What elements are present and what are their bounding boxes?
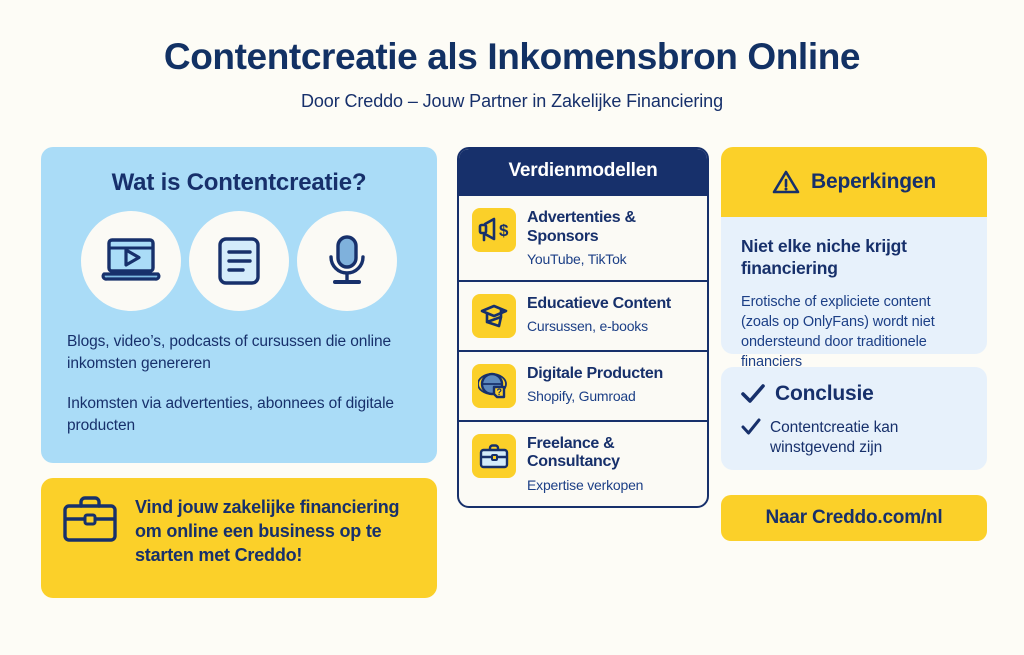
conclusion-point-row: Contentcreatie kan winstgevend zijn <box>741 418 967 459</box>
megaphone-dollar-icon: $ <box>472 208 516 252</box>
conclusion-point-text: Contentcreatie kan winstgevend zijn <box>770 418 967 459</box>
revenue-model-name: Educatieve Content <box>527 295 671 314</box>
conclusion-card: Conclusie Contentcreatie kan winstgevend… <box>721 367 987 470</box>
limitations-description: Erotische of expliciete content (zoals o… <box>741 292 967 372</box>
limitations-header: Beperkingen <box>721 147 987 217</box>
page-subtitle: Door Creddo – Jouw Partner in Zakelijke … <box>0 91 1024 112</box>
what-is-paragraph-2: Inkomsten via advertenties, abonnees of … <box>67 393 411 437</box>
briefcase-icon <box>472 434 516 478</box>
financing-cta-card[interactable]: Vind jouw zakelijke financiering om onli… <box>41 478 437 598</box>
left-column: Wat is Contentcreatie? <box>41 147 437 598</box>
limitations-heading: Beperkingen <box>811 170 936 194</box>
document-icon <box>214 235 264 287</box>
card-title-what-is: Wat is Contentcreatie? <box>67 169 411 197</box>
revenue-model-item-education[interactable]: Educatieve Content Cursussen, e-books <box>459 280 707 350</box>
what-is-contentcreation-card: Wat is Contentcreatie? <box>41 147 437 463</box>
revenue-models-panel: Verdienmodellen $ Advertenties & Sponsor… <box>457 147 709 508</box>
warning-triangle-icon <box>772 169 800 195</box>
globe-tag-icon: ? <box>472 364 516 408</box>
revenue-model-sub: Cursussen, e-books <box>527 318 671 335</box>
revenue-model-item-digital[interactable]: ? Digitale Producten Shopify, Gumroad <box>459 350 707 420</box>
check-icon <box>741 384 765 404</box>
revenue-model-sub: YouTube, TikTok <box>527 251 697 268</box>
limitations-body: Niet elke niche krijgt financiering Erot… <box>721 217 987 354</box>
icon-circle-document <box>189 211 289 311</box>
revenue-model-sub: Shopify, Gumroad <box>527 388 663 405</box>
revenue-model-item-freelance[interactable]: Freelance & Consultancy Expertise verkop… <box>459 420 707 506</box>
revenue-model-name: Advertenties & Sponsors <box>527 209 697 246</box>
icon-circle-video <box>81 211 181 311</box>
revenue-model-sub: Expertise verkopen <box>527 477 697 494</box>
content-type-icon-row <box>67 197 411 311</box>
revenue-model-name: Freelance & Consultancy <box>527 435 697 472</box>
page-header: Contentcreatie als Inkomensbron Online D… <box>0 38 1024 112</box>
financing-cta-text: Vind jouw zakelijke financiering om onli… <box>135 494 417 568</box>
svg-text:?: ? <box>497 387 503 397</box>
briefcase-icon <box>61 494 119 546</box>
svg-text:$: $ <box>499 221 509 240</box>
microphone-icon <box>321 233 373 289</box>
what-is-paragraph-1: Blogs, video’s, podcasts of cursussen di… <box>67 331 411 375</box>
limitations-lead: Niet elke niche krijgt financiering <box>741 235 967 279</box>
middle-column: Verdienmodellen $ Advertenties & Sponsor… <box>457 147 709 508</box>
check-icon <box>741 418 761 436</box>
icon-circle-microphone <box>297 211 397 311</box>
laptop-video-icon <box>101 236 161 286</box>
revenue-model-item-ads[interactable]: $ Advertenties & Sponsors YouTube, TikTo… <box>459 194 707 280</box>
graduation-cap-icon <box>472 294 516 338</box>
creddo-link-button[interactable]: Naar Creddo.com/nl <box>721 495 987 541</box>
right-column: Beperkingen Niet elke niche krijgt finan… <box>721 147 987 541</box>
revenue-models-heading: Verdienmodellen <box>459 149 707 194</box>
conclusion-heading: Conclusie <box>775 382 874 406</box>
page-title: Contentcreatie als Inkomensbron Online <box>0 38 1024 77</box>
revenue-model-name: Digitale Producten <box>527 365 663 384</box>
conclusion-title-row: Conclusie <box>741 382 967 406</box>
